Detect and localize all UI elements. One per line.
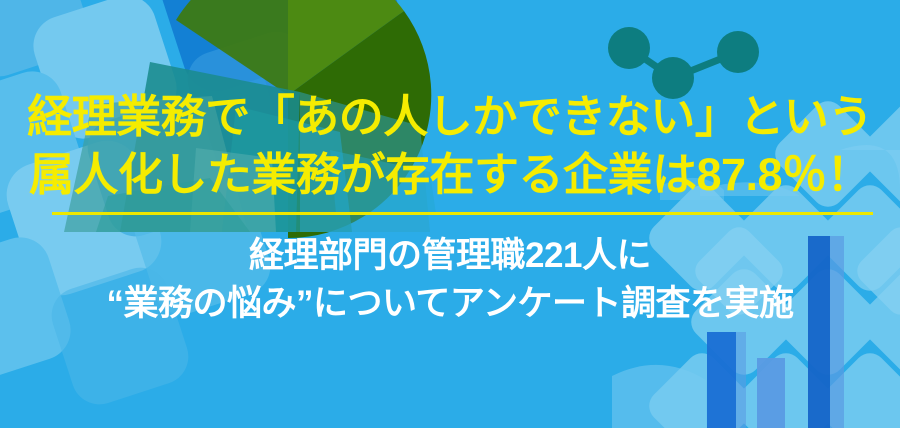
banner-content: 経理業務で「あの人しかできない」という 属人化した業務が存在する企業は87.8％… bbox=[0, 0, 900, 428]
divider bbox=[52, 212, 873, 215]
headline-line-1: 経理業務で「あの人しかできない」という bbox=[0, 88, 900, 146]
subheadline-line-2: “業務の悩み”についてアンケート調査を実施 bbox=[0, 280, 900, 328]
survey-result-banner: 経理業務で「あの人しかできない」という 属人化した業務が存在する企業は87.8％… bbox=[0, 0, 900, 428]
headline: 経理業務で「あの人しかできない」という 属人化した業務が存在する企業は87.8％… bbox=[0, 88, 900, 203]
headline-line-2: 属人化した業務が存在する企業は87.8％！ bbox=[0, 146, 900, 204]
subheadline-line-1: 経理部門の管理職221人に bbox=[0, 232, 900, 280]
subheadline: 経理部門の管理職221人に “業務の悩み”についてアンケート調査を実施 bbox=[0, 232, 900, 327]
